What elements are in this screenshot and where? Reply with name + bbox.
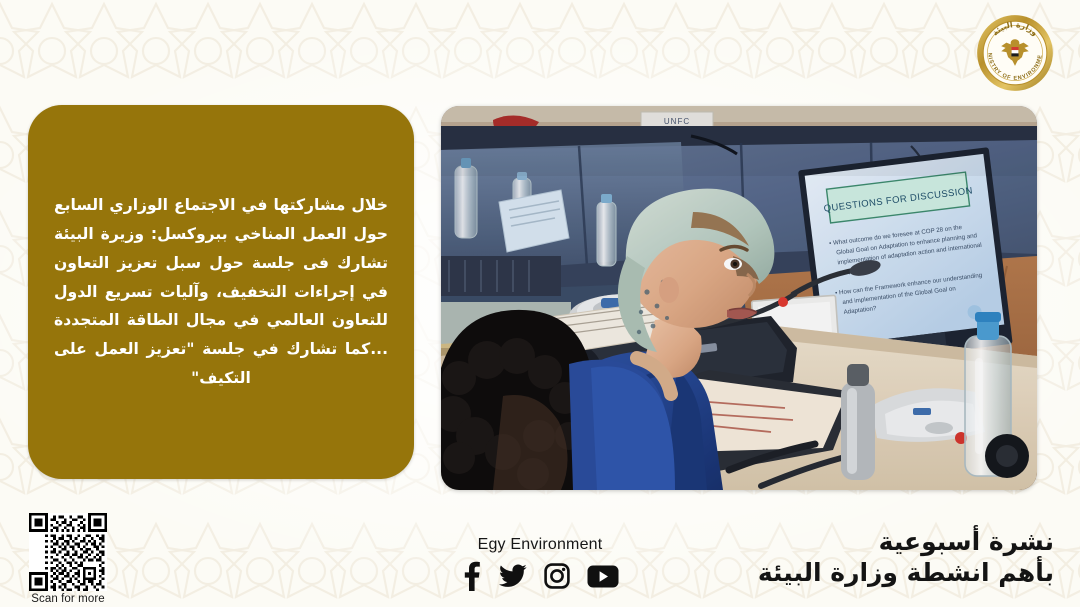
social-media-block: Egy Environment <box>440 536 640 591</box>
headline-gold-card: خلال مشاركتها في الاجتماع الوزاري السابع… <box>28 105 414 479</box>
facebook-icon[interactable] <box>462 561 482 591</box>
twitter-icon[interactable] <box>499 564 527 588</box>
meeting-photograph: UNFC <box>441 106 1037 490</box>
bulletin-tagline: نشرة أسبوعية بأهم انشطة وزارة البيئة <box>758 527 1054 588</box>
headline-arabic-text: خلال مشاركتها في الاجتماع الوزاري السابع… <box>28 191 414 393</box>
bulletin-card: وزارة البيئة MINISTRY OF ENVIRONMENT خلا… <box>0 0 1080 607</box>
instagram-icon[interactable] <box>544 563 570 589</box>
qr-code-icon[interactable] <box>29 513 107 591</box>
youtube-icon[interactable] <box>587 565 619 588</box>
qr-caption: Scan for more <box>29 593 107 605</box>
social-handle-label: Egy Environment <box>440 536 640 554</box>
tagline-line-1: نشرة أسبوعية <box>758 527 1054 558</box>
ministry-of-environment-seal-logo: وزارة البيئة MINISTRY OF ENVIRONMENT <box>972 10 1058 96</box>
social-icons-row <box>440 561 640 591</box>
tagline-line-2: بأهم انشطة وزارة البيئة <box>758 558 1054 589</box>
qr-code-block[interactable]: Scan for more <box>29 513 107 605</box>
